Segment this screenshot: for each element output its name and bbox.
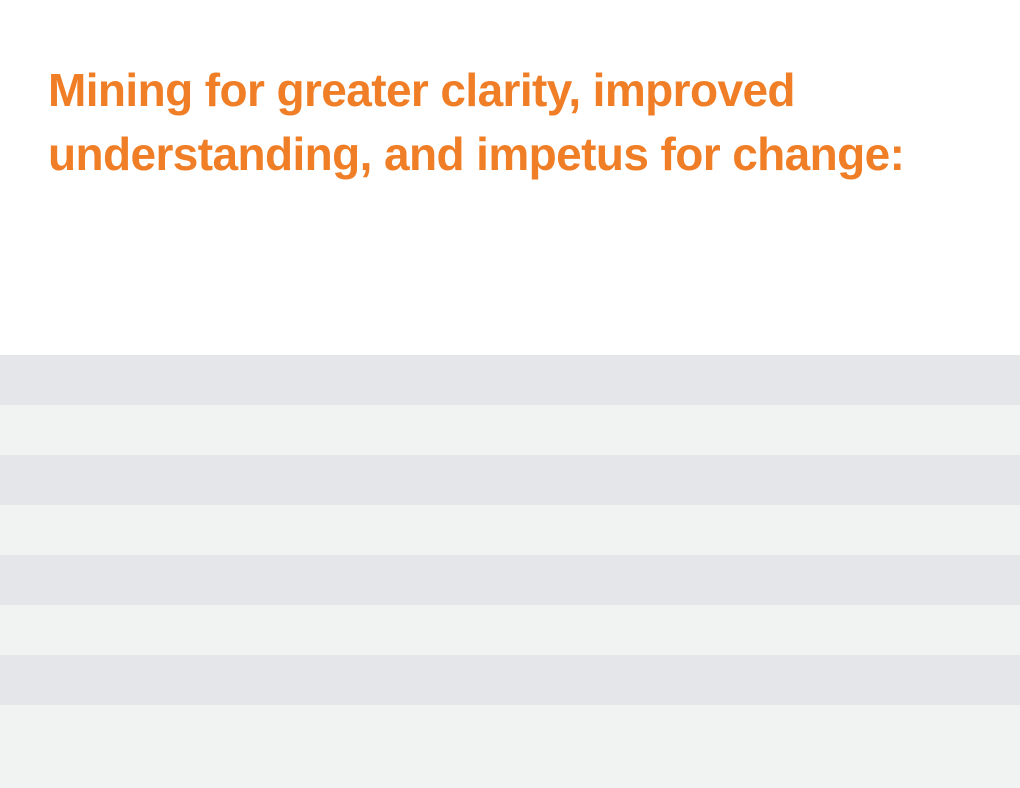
stripe-row — [0, 405, 1020, 455]
stripe-row — [0, 605, 1020, 655]
stripe-row — [0, 355, 1020, 405]
stripe-row — [0, 505, 1020, 555]
page-title-line-2: understanding, and impetus for change: — [48, 122, 998, 186]
stripe-row — [0, 705, 1020, 788]
page-title: Mining for greater clarity, improved und… — [48, 58, 998, 186]
striped-content-band — [0, 355, 1020, 788]
stripe-row — [0, 555, 1020, 605]
slide-canvas: Mining for greater clarity, improved und… — [0, 0, 1020, 788]
stripe-row — [0, 655, 1020, 705]
stripe-row — [0, 455, 1020, 505]
page-title-line-1: Mining for greater clarity, improved — [48, 58, 998, 122]
